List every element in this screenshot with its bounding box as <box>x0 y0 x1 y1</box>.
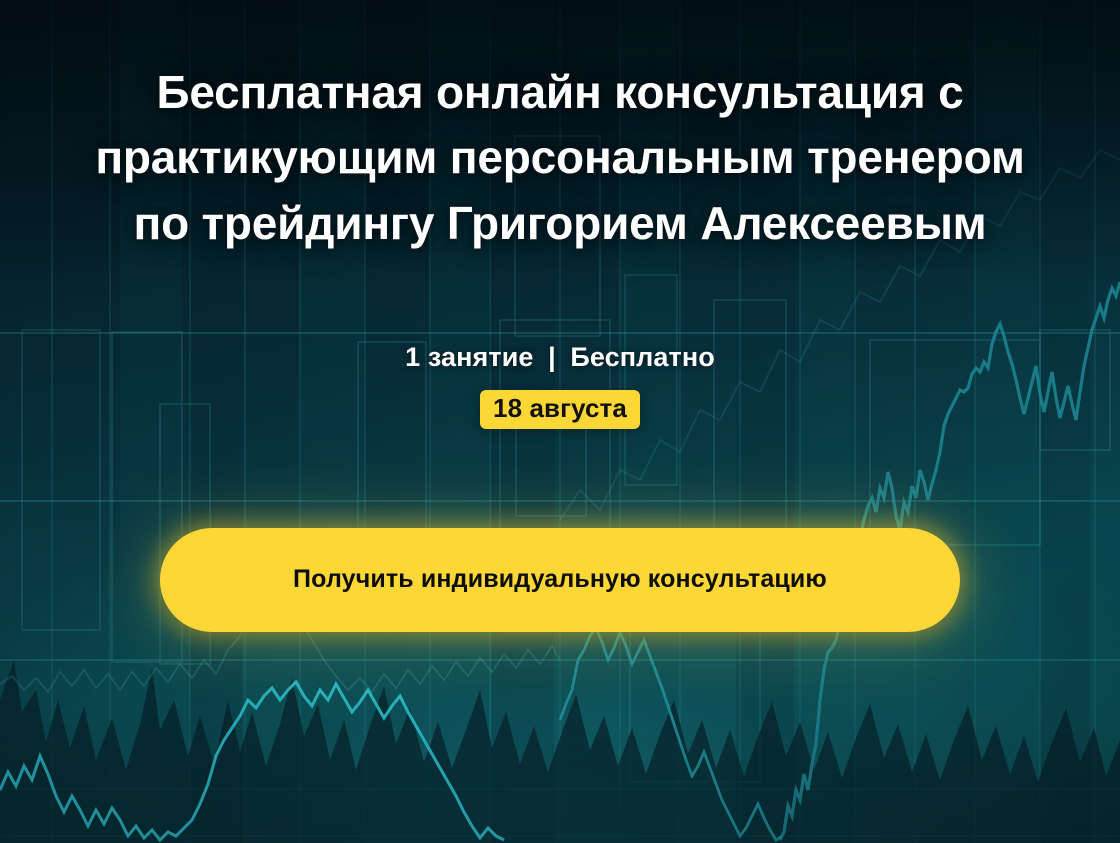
status-badge-date: 18 августа <box>480 390 640 429</box>
hero-banner: Бесплатная онлайн консультация с практик… <box>0 0 1120 843</box>
event-subtitle: 1 занятие | Бесплатно <box>405 342 715 373</box>
subtitle-separator: | <box>541 342 563 373</box>
cta-container: Получить индивидуальную консультацию <box>0 528 1120 632</box>
hero-content: Бесплатная онлайн консультация с практик… <box>0 0 1120 843</box>
lessons-count: 1 занятие <box>405 342 533 372</box>
page-title: Бесплатная онлайн консультация с практик… <box>95 60 1025 256</box>
event-meta: 1 занятие | Бесплатно 18 августа <box>405 342 715 429</box>
price-label: Бесплатно <box>570 342 714 372</box>
get-consultation-button[interactable]: Получить индивидуальную консультацию <box>160 528 960 632</box>
